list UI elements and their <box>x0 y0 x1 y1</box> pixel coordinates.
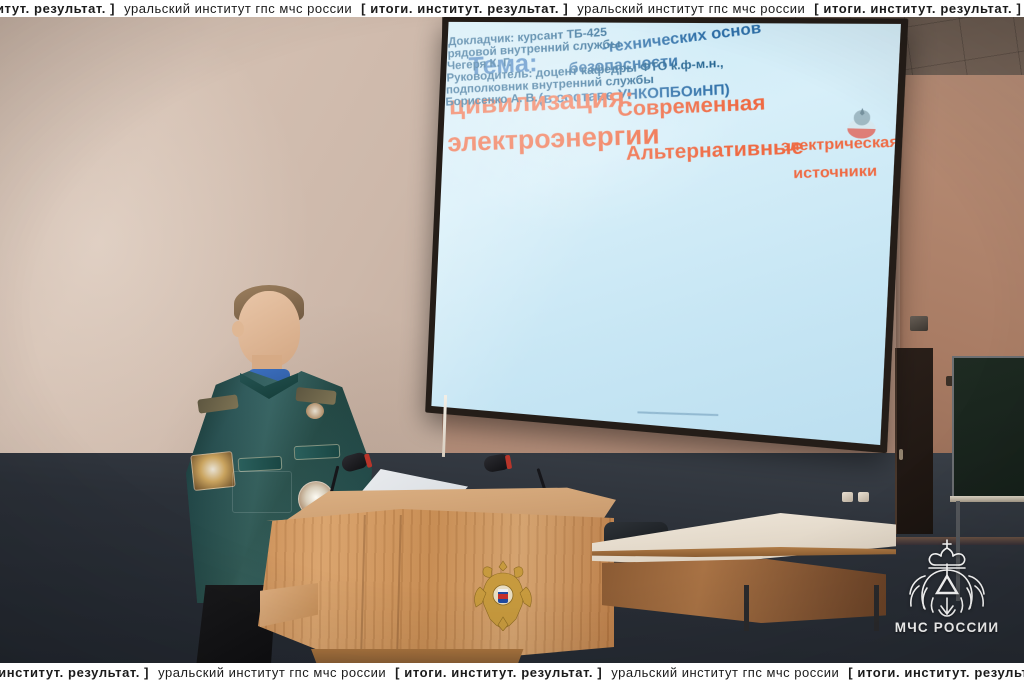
table-leg-right <box>874 585 879 631</box>
table-top <box>592 513 896 565</box>
sleeve-patch <box>190 451 236 491</box>
mchs-watermark: МЧС РОССИИ <box>888 527 1006 635</box>
mchs-watermark-label: МЧС РОССИИ <box>895 620 999 635</box>
screen-surface: -технических основ безопасности (в соста… <box>431 22 901 445</box>
table <box>592 513 896 631</box>
russian-coat-of-arms-icon <box>470 551 536 631</box>
chalkboard-tray <box>950 496 1024 502</box>
name-tag-right <box>294 444 341 460</box>
podium-base <box>302 649 528 663</box>
wall-speaker <box>910 316 928 331</box>
door[interactable] <box>895 348 933 534</box>
name-tag-left <box>238 456 283 472</box>
bottom-marquee-banner: [ итоги. институт. результат. ]уральский… <box>0 663 1024 683</box>
screen-glare <box>431 22 901 445</box>
door-handle-icon[interactable] <box>899 449 903 460</box>
socket-right <box>858 492 869 502</box>
podium <box>258 487 622 663</box>
top-marquee-banner: [ итоги. институт. результат. ]уральский… <box>0 0 1024 17</box>
lecture-hall-photo: -технических основ безопасности (в соста… <box>0 17 1024 663</box>
table-leg-left <box>744 585 749 631</box>
ear <box>232 321 244 337</box>
chalkboard <box>952 356 1024 502</box>
screenshot-root: [ итоги. институт. результат. ]уральский… <box>0 0 1024 683</box>
top-banner-track: [ итоги. институт. результат. ]уральский… <box>0 0 1024 17</box>
wall-sockets <box>842 492 876 502</box>
socket-left <box>842 492 853 502</box>
projection-screen: -технических основ безопасности (в соста… <box>425 17 908 453</box>
chest-badge <box>306 403 324 419</box>
bottom-banner-track: [ итоги. институт. результат. ]уральский… <box>0 663 1024 683</box>
double-headed-eagle-icon <box>901 536 993 618</box>
